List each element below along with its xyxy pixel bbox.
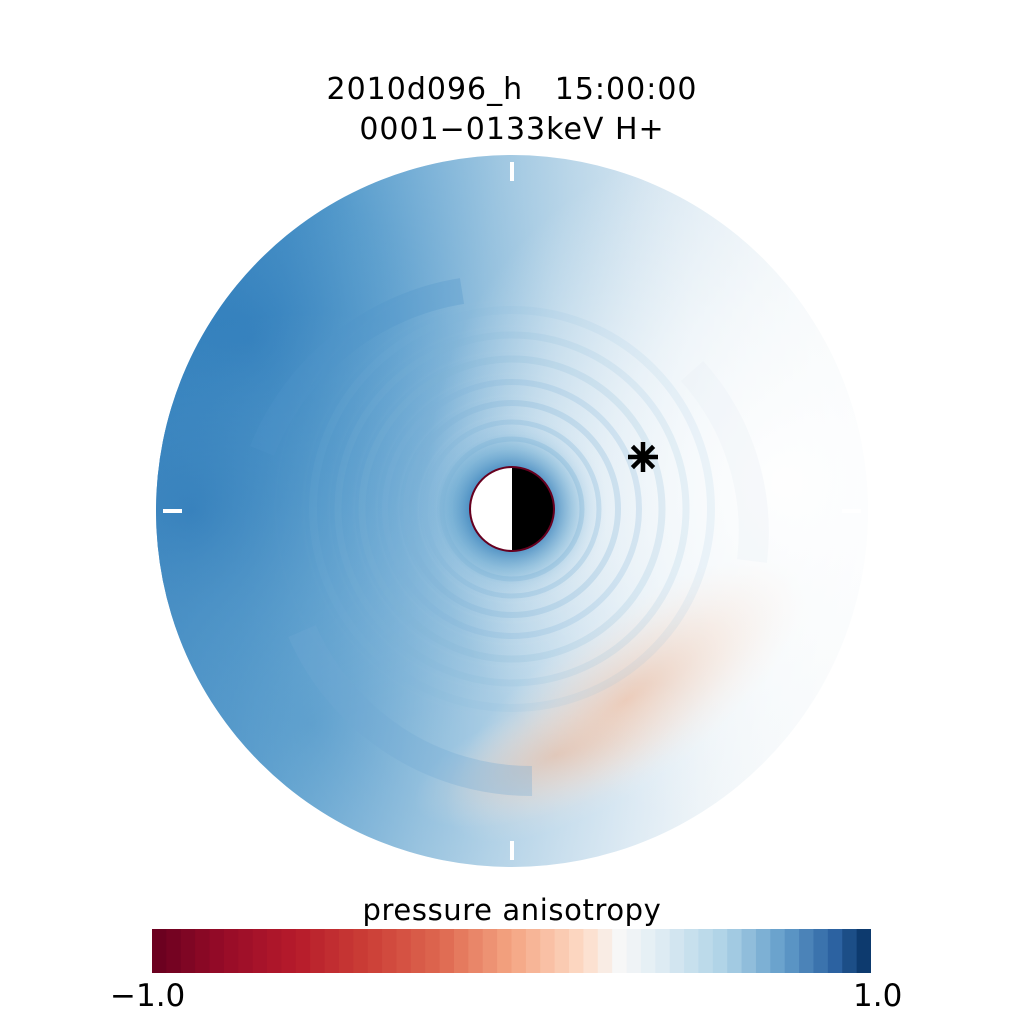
- colorbar-band: [425, 929, 440, 973]
- colorbar-band: [181, 929, 196, 973]
- polar-plot-svg: [156, 155, 868, 867]
- colorbar-band: [152, 929, 167, 973]
- colorbar[interactable]: [152, 929, 871, 973]
- colorbar-band: [684, 929, 699, 973]
- spacecraft-marker-icon: [628, 442, 658, 472]
- colorbar-band: [224, 929, 239, 973]
- colorbar-band: [497, 929, 512, 973]
- colorbar-band: [598, 929, 613, 973]
- colorbar-band: [396, 929, 411, 973]
- colorbar-band: [842, 929, 857, 973]
- title-line-1: 2010d096_h 15:00:00: [0, 70, 1024, 110]
- colorbar-band: [454, 929, 469, 973]
- colorbar-band: [713, 929, 728, 973]
- colorbar-band: [655, 929, 670, 973]
- colorbar-band: [512, 929, 527, 973]
- colorbar-band: [742, 929, 757, 973]
- colorbar-band: [411, 929, 426, 973]
- colorbar-band: [253, 929, 268, 973]
- colorbar-band: [569, 929, 584, 973]
- colorbar-band: [281, 929, 296, 973]
- colorbar-band: [555, 929, 570, 973]
- colorbar-band: [353, 929, 368, 973]
- colorbar-band: [526, 929, 541, 973]
- polar-plot-area: [156, 155, 868, 867]
- colorbar-band: [468, 929, 483, 973]
- plot-title: 2010d096_h 15:00:00 0001−0133keV H+: [0, 70, 1024, 150]
- figure-canvas: 2010d096_h 15:00:00 0001−0133keV H+: [0, 0, 1024, 1024]
- colorbar-band: [857, 929, 871, 973]
- colorbar-band: [583, 929, 598, 973]
- colorbar-min-label: −1.0: [110, 978, 185, 1014]
- colorbar-band: [828, 929, 843, 973]
- planet-disk: [469, 466, 555, 552]
- colorbar-band: [296, 929, 311, 973]
- colorbar-band: [195, 929, 210, 973]
- title-line-2: 0001−0133keV H+: [0, 110, 1024, 150]
- colorbar-title: pressure anisotropy: [0, 893, 1024, 927]
- colorbar-band: [440, 929, 455, 973]
- colorbar-band: [210, 929, 225, 973]
- colorbar-band: [238, 929, 253, 973]
- colorbar-band: [641, 929, 656, 973]
- colorbar-band: [267, 929, 282, 973]
- colorbar-band: [166, 929, 181, 973]
- colorbar-swatches[interactable]: [152, 929, 871, 973]
- colorbar-band: [483, 929, 498, 973]
- colorbar-band: [310, 929, 325, 973]
- colorbar-band: [382, 929, 397, 973]
- colorbar-max-label: 1.0: [853, 978, 902, 1014]
- colorbar-band: [698, 929, 713, 973]
- colorbar-band: [627, 929, 642, 973]
- colorbar-band: [770, 929, 785, 973]
- colorbar-band: [670, 929, 685, 973]
- colorbar-band: [813, 929, 828, 973]
- colorbar-band: [785, 929, 800, 973]
- colorbar-band: [612, 929, 627, 973]
- colorbar-band: [325, 929, 340, 973]
- colorbar-band: [339, 929, 354, 973]
- colorbar-band: [368, 929, 383, 973]
- colorbar-band: [727, 929, 742, 973]
- colorbar-band: [540, 929, 555, 973]
- colorbar-band: [799, 929, 814, 973]
- colorbar-band: [756, 929, 771, 973]
